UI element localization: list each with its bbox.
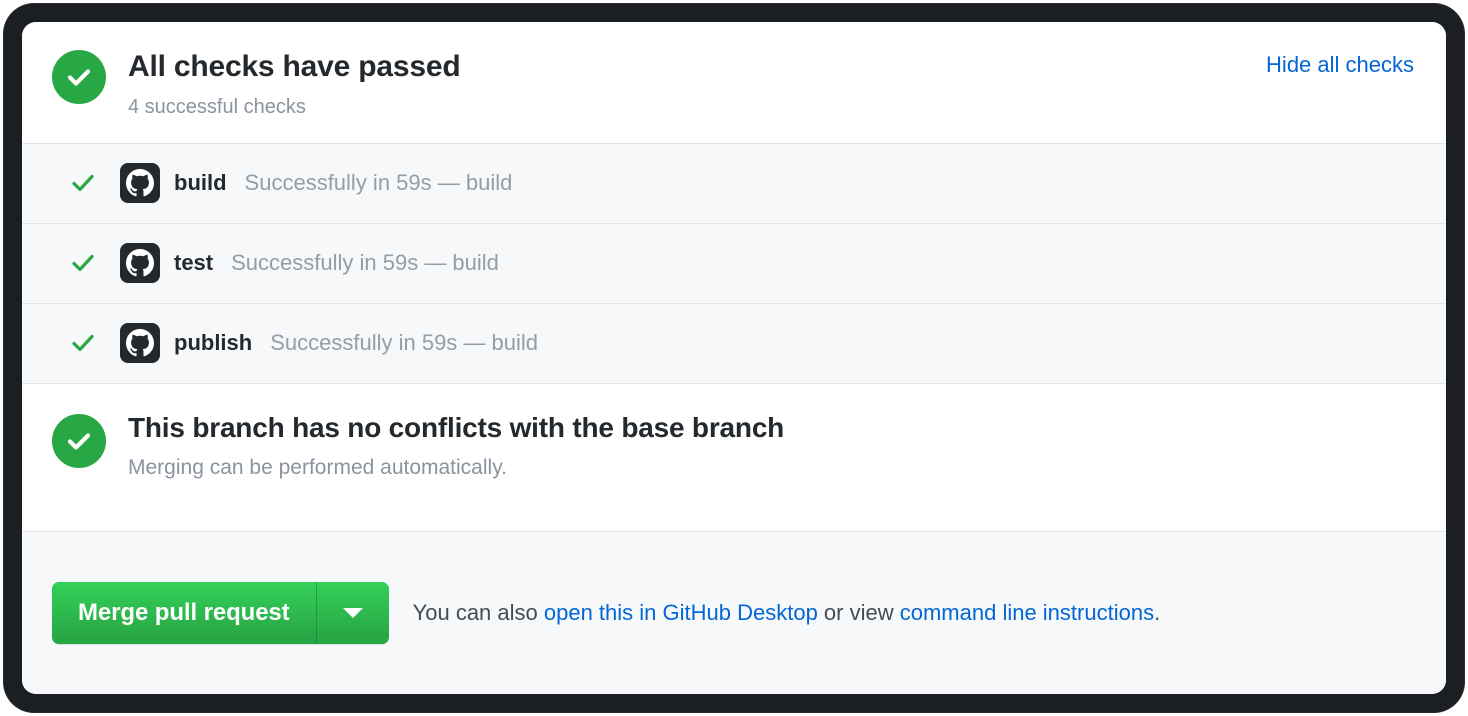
check-name: test [174,250,213,276]
check-icon [68,250,98,276]
footer-text-before: You can also [413,600,544,625]
footer-text-after: . [1154,600,1160,625]
open-in-github-desktop-link[interactable]: open this in GitHub Desktop [544,600,818,625]
checks-list: build Successfully in 59s — build test S… [22,144,1446,384]
checks-status-header: All checks have passed 4 successful chec… [22,22,1446,144]
merge-status-card: All checks have passed 4 successful chec… [22,22,1446,694]
conflict-title: This branch has no conflicts with the ba… [128,412,784,444]
check-circle-icon [52,414,106,468]
check-icon [68,170,98,196]
github-octocat-icon [120,323,160,363]
check-name: publish [174,330,252,356]
page-title: All checks have passed [128,50,460,85]
merge-button-group: Merge pull request [52,582,389,644]
merge-action-footer: Merge pull request You can also open thi… [22,532,1446,695]
check-description: Successfully in 59s — build [245,170,513,196]
table-row[interactable]: test Successfully in 59s — build [22,224,1446,304]
check-name: build [174,170,227,196]
footer-text-middle: or view [818,600,900,625]
footer-help-text: You can also open this in GitHub Desktop… [413,600,1161,626]
hide-all-checks-link[interactable]: Hide all checks [1266,52,1414,78]
merge-conflict-status: This branch has no conflicts with the ba… [22,384,1446,532]
check-icon [68,330,98,356]
table-row[interactable]: build Successfully in 59s — build [22,144,1446,224]
merge-pull-request-button[interactable]: Merge pull request [52,582,316,644]
device-bezel: All checks have passed 4 successful chec… [4,4,1464,712]
chevron-down-icon [343,608,363,618]
github-octocat-icon [120,243,160,283]
command-line-instructions-link[interactable]: command line instructions [900,600,1154,625]
check-description: Successfully in 59s — build [231,250,499,276]
checks-summary: 4 successful checks [128,95,460,119]
check-circle-icon [52,50,106,104]
table-row[interactable]: publish Successfully in 59s — build [22,304,1446,384]
conflict-subtitle: Merging can be performed automatically. [128,455,784,480]
merge-options-dropdown-button[interactable] [316,582,389,644]
github-octocat-icon [120,163,160,203]
check-description: Successfully in 59s — build [270,330,538,356]
